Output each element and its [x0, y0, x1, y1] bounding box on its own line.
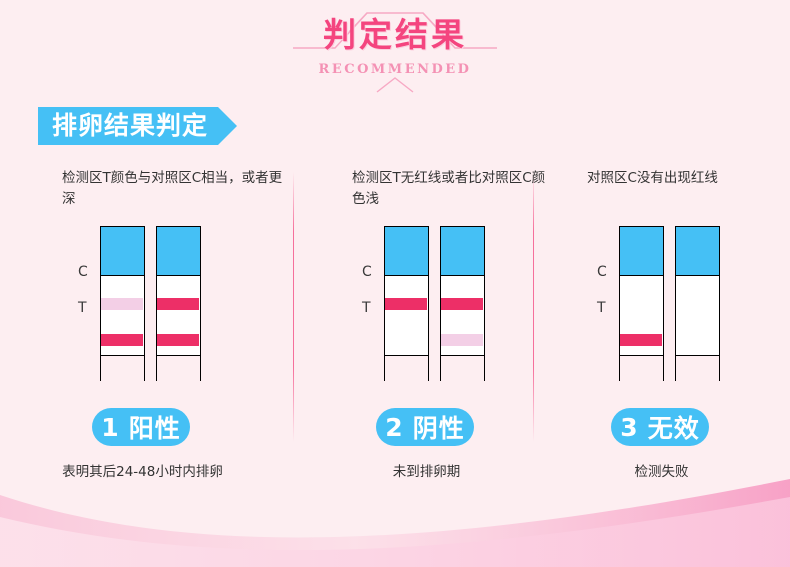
control-line [676, 298, 718, 310]
test-strips [543, 226, 790, 386]
test-strip [156, 226, 201, 381]
strip-cap [100, 226, 145, 276]
strip-cap [440, 226, 485, 276]
control-line [441, 298, 483, 310]
result-number: 2 [385, 413, 403, 442]
result-column-negative: 检测区T无红线或者比对照区C颜色浅 C T [300, 160, 553, 490]
strip-window [675, 276, 720, 356]
strip-cap [619, 226, 664, 276]
control-line [620, 298, 662, 310]
result-column-invalid: 对照区C没有出现红线 C T [543, 160, 790, 490]
strip-tail [100, 356, 145, 381]
strip-window [100, 276, 145, 356]
test-strip [619, 226, 664, 381]
section-banner: 排卵结果判定 [38, 107, 218, 145]
test-strip [675, 226, 720, 381]
page-title: 判定结果 [0, 16, 790, 54]
page-subtitle: RECOMMENDED [0, 62, 790, 77]
strip-window [384, 276, 429, 356]
column-divider [293, 172, 294, 442]
test-line [676, 334, 718, 346]
result-number: 3 [620, 413, 638, 442]
result-number: 1 [101, 413, 119, 442]
strip-cap [384, 226, 429, 276]
result-caption: 未到排卵期 [300, 460, 553, 480]
result-badge: 1 阳性 [92, 408, 190, 446]
control-line [385, 298, 427, 310]
banner-arrow-icon [218, 107, 237, 145]
strip-tail [440, 356, 485, 381]
column-description: 对照区C没有出现红线 [587, 168, 790, 189]
test-line [157, 334, 199, 346]
test-strip [384, 226, 429, 381]
strip-window [440, 276, 485, 356]
bottom-wave-decoration [0, 477, 790, 567]
strip-tail [619, 356, 664, 381]
test-strips [16, 226, 269, 386]
strip-window [156, 276, 201, 356]
test-line [441, 334, 483, 346]
strip-tail [156, 356, 201, 381]
result-label: 阴性 [413, 409, 465, 445]
section-banner-label: 排卵结果判定 [52, 107, 208, 145]
strip-cap [156, 226, 201, 276]
results-columns: 检测区T颜色与对照区C相当，或者更深 C T [0, 160, 790, 490]
page-root: 判定结果 RECOMMENDED 排卵结果判定 检测区T颜色与对照区C相当，或者… [0, 0, 790, 567]
test-strip [440, 226, 485, 381]
test-strips [300, 226, 553, 386]
result-caption: 检测失败 [535, 460, 788, 480]
control-line [101, 298, 143, 310]
strip-cap [675, 226, 720, 276]
result-label: 阳性 [129, 409, 181, 445]
result-column-positive: 检测区T颜色与对照区C相当，或者更深 C T [16, 160, 269, 490]
strip-tail [675, 356, 720, 381]
result-badge: 2 阴性 [376, 408, 474, 446]
result-caption: 表明其后24-48小时内排卵 [16, 460, 269, 480]
control-line [157, 298, 199, 310]
column-description: 检测区T颜色与对照区C相当，或者更深 [62, 168, 292, 210]
strip-tail [384, 356, 429, 381]
test-strip [100, 226, 145, 381]
column-description: 检测区T无红线或者比对照区C颜色浅 [352, 168, 552, 210]
test-line [101, 334, 143, 346]
test-line [385, 334, 427, 346]
page-header: 判定结果 RECOMMENDED [0, 0, 790, 105]
result-badge: 3 无效 [611, 408, 709, 446]
strip-window [619, 276, 664, 356]
test-line [620, 334, 662, 346]
section-banner-body: 排卵结果判定 [38, 107, 218, 145]
result-label: 无效 [648, 409, 700, 445]
